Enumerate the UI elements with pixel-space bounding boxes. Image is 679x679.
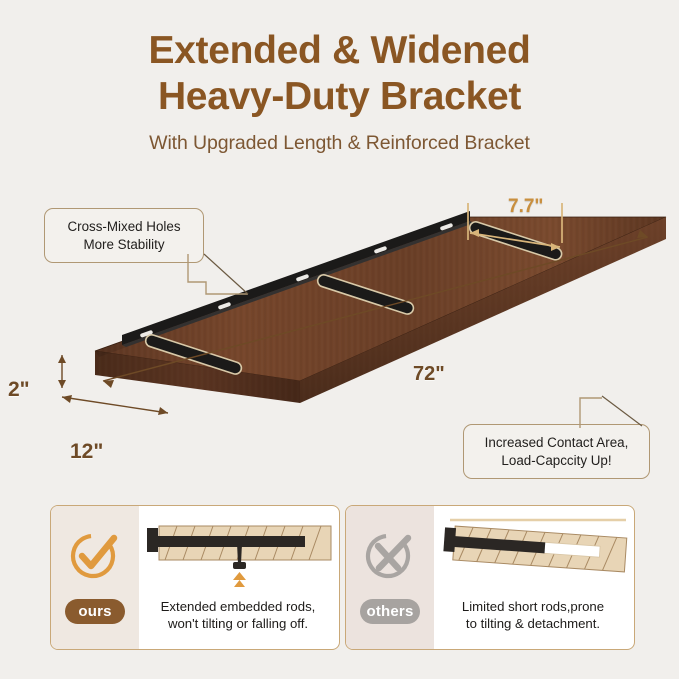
comparison-panel-others: others bbox=[345, 505, 635, 650]
comparison-panel-ours: ours bbox=[50, 505, 340, 650]
page-title-line-1: Extended & Widened bbox=[0, 28, 679, 74]
others-caption-line-1: Limited short rods,prone bbox=[438, 598, 628, 615]
callout-contact-area: Increased Contact Area, Load-Capccity Up… bbox=[463, 424, 650, 479]
callout-right-line-1: Increased Contact Area, bbox=[475, 434, 638, 452]
ours-caption-line-1: Extended embedded rods, bbox=[143, 598, 333, 615]
ours-caption-line-2: won't tilting or falling off. bbox=[143, 615, 333, 632]
dimension-label-rod-depth: 7.7" bbox=[508, 196, 543, 218]
dimension-label-thickness: 2" bbox=[8, 378, 30, 402]
page-subtitle: With Upgraded Length & Reinforced Bracke… bbox=[0, 132, 679, 155]
comparison-section: ours bbox=[0, 505, 679, 660]
dimension-label-length: 72" bbox=[413, 363, 445, 386]
thickness-measure bbox=[58, 355, 66, 388]
others-caption-line-2: to tilting & detachment. bbox=[438, 615, 628, 632]
callout-right-line-2: Load-Capccity Up! bbox=[475, 452, 638, 470]
callout-left-line-1: Cross-Mixed Holes bbox=[56, 218, 192, 236]
callout-left-line-2: More Stability bbox=[56, 236, 192, 254]
header-block: Extended & Widened Heavy-Duty Bracket Wi… bbox=[0, 28, 679, 155]
badge-ours: ours bbox=[65, 599, 125, 624]
ours-rod-diagram bbox=[141, 510, 339, 594]
page-title-line-2: Heavy-Duty Bracket bbox=[0, 74, 679, 120]
callout-cross-mixed-holes: Cross-Mixed Holes More Stability bbox=[44, 208, 204, 263]
badge-others: others bbox=[360, 599, 420, 624]
depth-measure bbox=[62, 395, 168, 415]
check-circle-icon bbox=[67, 528, 123, 584]
others-rod-diagram bbox=[436, 510, 634, 594]
x-circle-icon bbox=[362, 528, 418, 584]
dimension-label-depth: 12" bbox=[70, 440, 103, 464]
infographic-canvas: Extended & Widened Heavy-Duty Bracket Wi… bbox=[0, 0, 679, 679]
ours-caption: Extended embedded rods, won't tilting or… bbox=[143, 598, 333, 632]
others-caption: Limited short rods,prone to tilting & de… bbox=[438, 598, 628, 632]
